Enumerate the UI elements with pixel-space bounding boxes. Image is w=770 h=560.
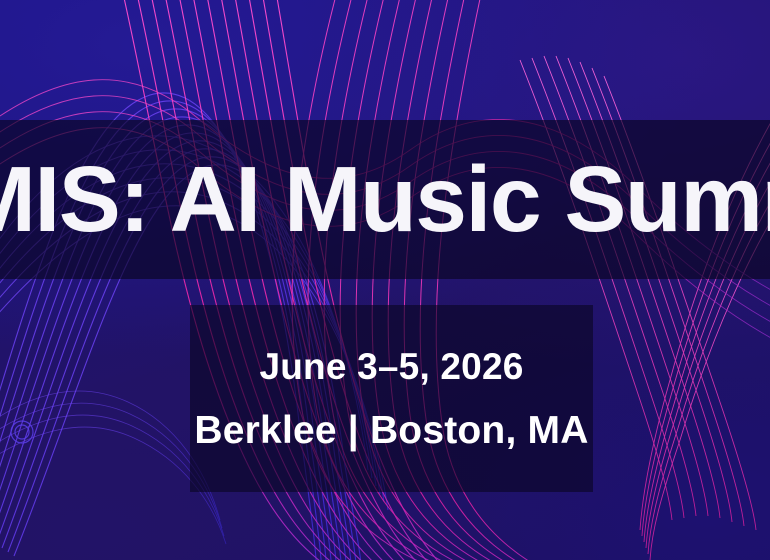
event-banner: ISMIS: AI Music Summit June 3–5, 2026 Be… bbox=[0, 0, 770, 560]
event-title: ISMIS: AI Music Summit bbox=[0, 120, 770, 279]
event-venue: Berklee | Boston, MA bbox=[194, 411, 588, 450]
event-details: June 3–5, 2026 Berklee | Boston, MA bbox=[190, 305, 593, 492]
event-dates: June 3–5, 2026 bbox=[259, 348, 523, 385]
